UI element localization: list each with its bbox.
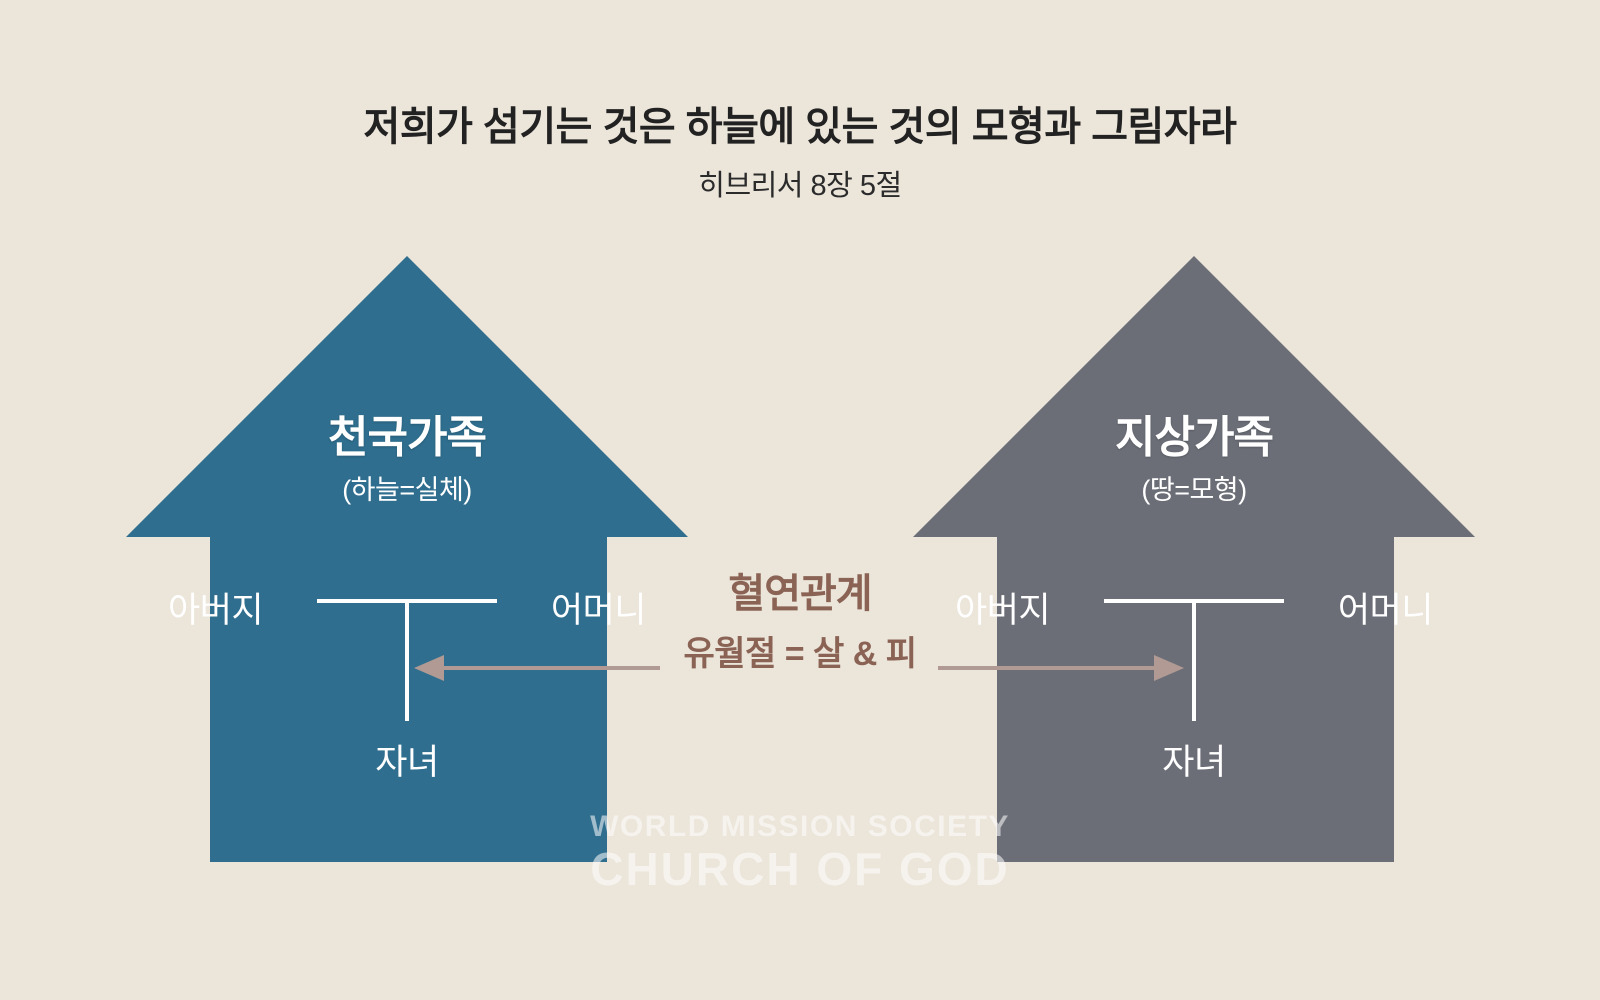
page-title: 저희가 섬기는 것은 하늘에 있는 것의 모형과 그림자라: [0, 104, 1600, 150]
family-father-left: 아버지: [168, 582, 263, 633]
house-earthly-family: 지상가족 (땅=모형) 아버지 어머니 자녀: [913, 256, 1475, 862]
family-child-left: 자녀: [126, 734, 688, 785]
house-heavenly-family: 천국가족 (하늘=실체) 아버지 어머니 자녀: [126, 256, 688, 862]
title-block: 저희가 섬기는 것은 하늘에 있는 것의 모형과 그림자라 히브리서 8장 5절: [0, 104, 1600, 204]
verse-reference: 히브리서 8장 5절: [0, 162, 1600, 204]
diagram-canvas: 저희가 섬기는 것은 하늘에 있는 것의 모형과 그림자라 히브리서 8장 5절…: [0, 0, 1600, 1000]
family-child-right: 자녀: [913, 734, 1475, 785]
family-father-right: 아버지: [955, 582, 1050, 633]
family-mother-right: 어머니: [1338, 582, 1433, 633]
family-mother-left: 어머니: [551, 582, 646, 633]
